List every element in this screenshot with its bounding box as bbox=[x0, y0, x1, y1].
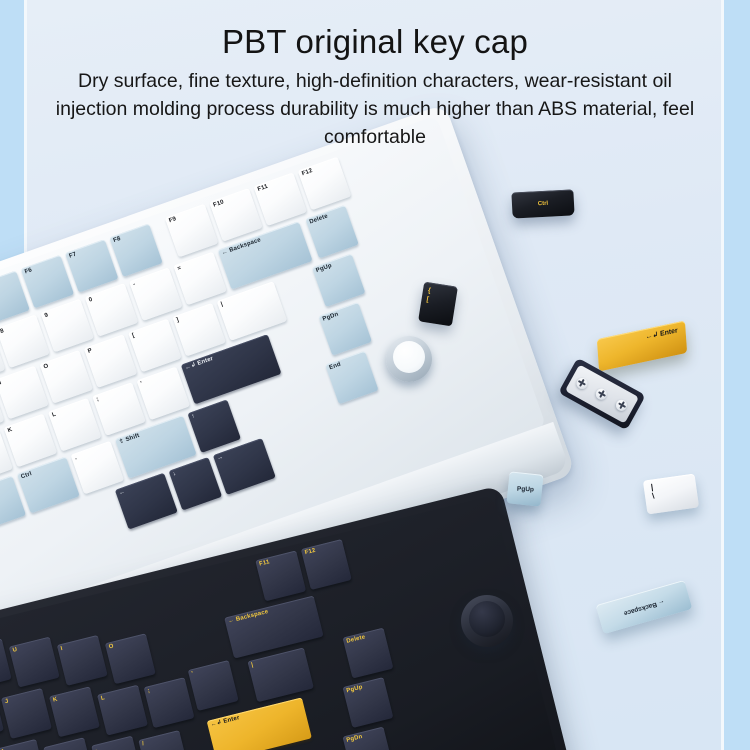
volume-knob-black[interactable] bbox=[461, 595, 513, 647]
product-image-stage: PBT original key cap Dry surface, fine t… bbox=[0, 0, 750, 750]
floating-keycap-pgup[interactable]: PgUp bbox=[506, 471, 543, 506]
page-description: Dry surface, fine texture, high-definiti… bbox=[45, 68, 705, 151]
switch-stem-icon bbox=[614, 397, 629, 412]
floating-keycap-bracket[interactable]: {[ bbox=[418, 282, 458, 327]
floating-keycap-pipe[interactable]: |\ bbox=[643, 474, 699, 515]
switch-stem-icon bbox=[595, 387, 610, 402]
volume-knob-white[interactable] bbox=[386, 336, 432, 382]
page-title: PBT original key cap bbox=[26, 24, 724, 60]
switch-stem-icon bbox=[575, 376, 590, 391]
background-edge-right bbox=[724, 0, 750, 750]
floating-keycap-ctrl[interactable]: Ctrl bbox=[511, 189, 574, 218]
marketing-copy: PBT original key cap Dry surface, fine t… bbox=[26, 0, 724, 151]
